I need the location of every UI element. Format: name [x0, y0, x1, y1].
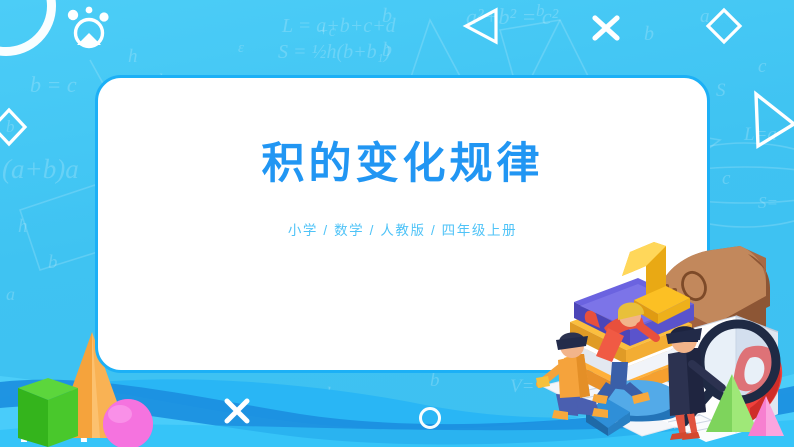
triangle-right-pointing-icon — [752, 88, 794, 154]
diamond-left-icon — [0, 106, 30, 148]
cross-bottom-left-icon — [222, 396, 252, 426]
subtitle-breadcrumb: 小学 / 数学 / 人教版 / 四年级上册 — [288, 219, 517, 239]
triangle-left-pointing-icon — [460, 6, 502, 46]
slide-canvas: L = a+b+c+d S = ½h(b+b₁) ε (a+b)a a²+b² … — [0, 0, 794, 447]
molecule-icon — [66, 6, 112, 52]
isometric-study-illustration — [534, 236, 794, 447]
ring-bottom-center-icon — [419, 407, 441, 429]
cube-green-icon — [18, 378, 78, 447]
diamond-top-right-icon — [704, 6, 744, 46]
sphere-pink-icon — [103, 399, 153, 447]
page-title: 积的变化规律 — [262, 140, 544, 189]
cross-top-center-icon — [590, 12, 622, 44]
